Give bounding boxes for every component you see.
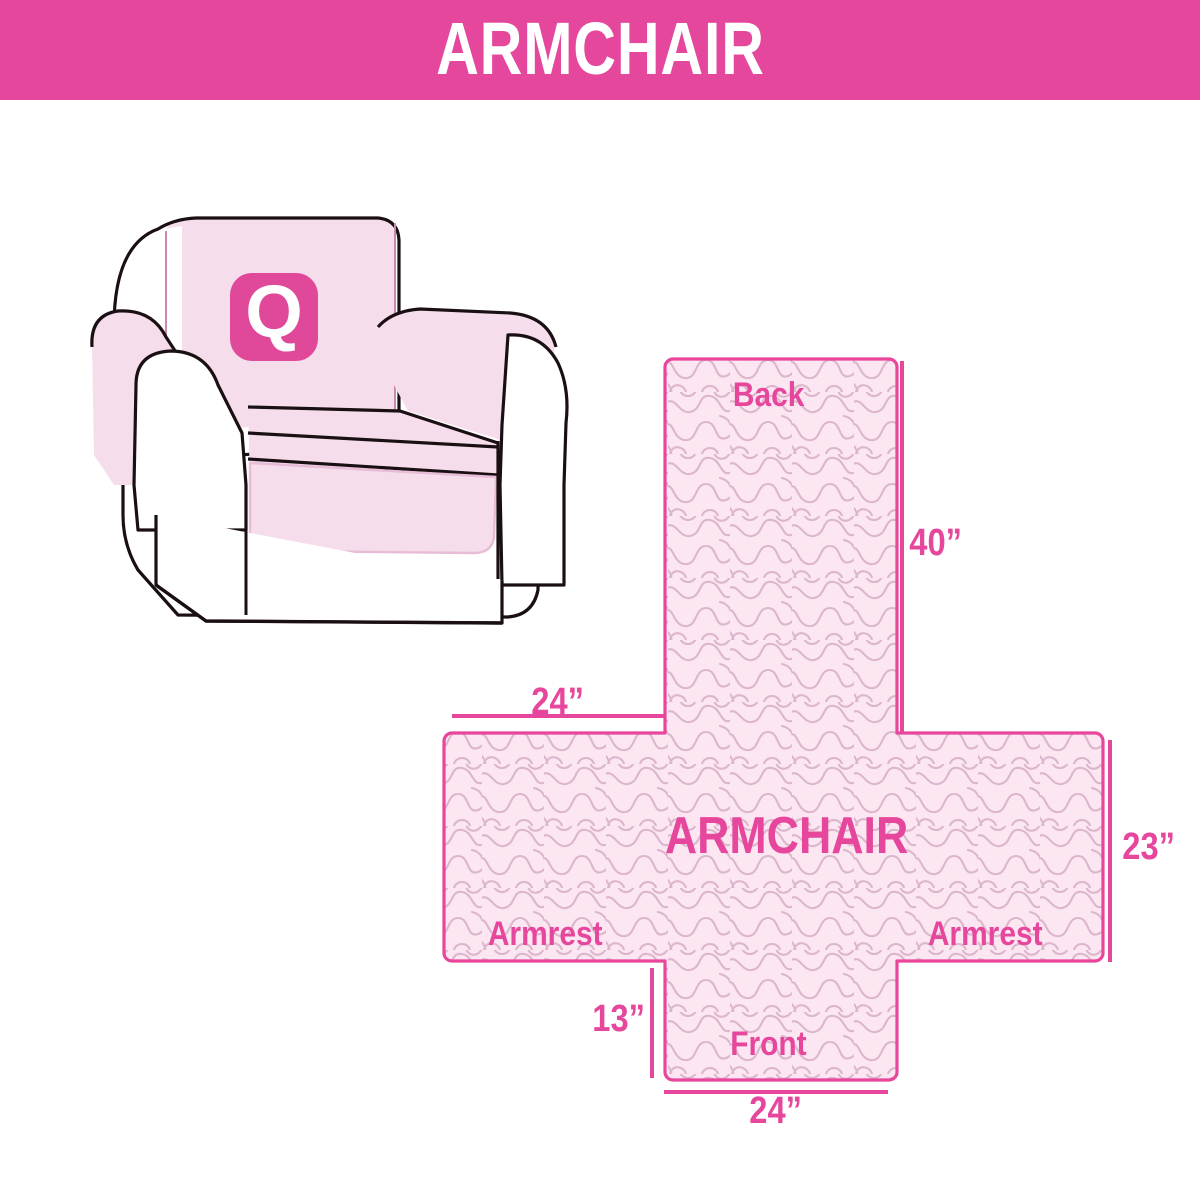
dimension-label-armrest-width: 24” bbox=[531, 683, 584, 721]
dimension-label-front-drop: 13” bbox=[592, 1000, 645, 1038]
page-root: ARMCHAIR bbox=[0, 0, 1200, 1200]
panel-label-armrest-right: Armrest bbox=[928, 917, 1043, 951]
slipcover-pattern-diagram bbox=[420, 330, 1200, 1160]
dimension-label-front-width: 24” bbox=[749, 1092, 802, 1130]
panel-label-armrest-left: Armrest bbox=[488, 917, 603, 951]
page-title: ARMCHAIR bbox=[436, 12, 765, 86]
panel-label-front: Front bbox=[730, 1027, 806, 1061]
panel-label-back: Back bbox=[733, 378, 805, 412]
svg-text:Q: Q bbox=[245, 270, 303, 353]
dimension-label-back-height: 40” bbox=[909, 524, 962, 562]
logo-badge: Q bbox=[230, 270, 318, 361]
dimension-label-seat-depth: 23” bbox=[1122, 828, 1175, 866]
header-banner: ARMCHAIR bbox=[0, 0, 1200, 100]
pattern-center-label: ARMCHAIR bbox=[665, 810, 908, 862]
